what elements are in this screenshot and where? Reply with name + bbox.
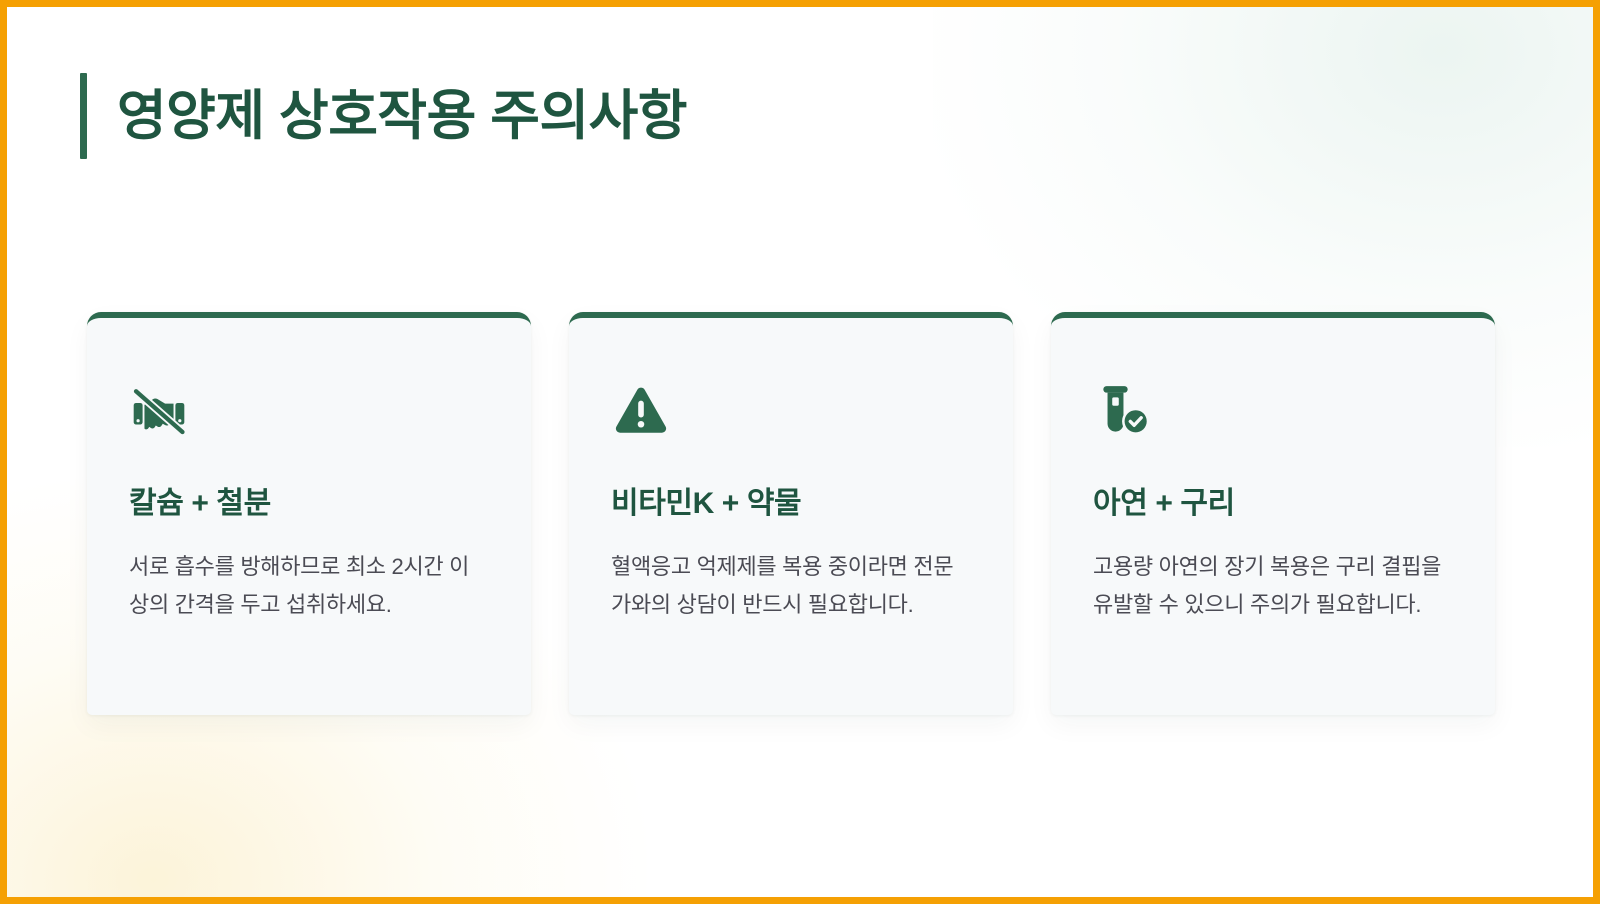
card-row: 칼슘 + 철분 서로 흡수를 방해하므로 최소 2시간 이상의 간격을 두고 섭…	[87, 312, 1495, 715]
page-heading: 영양제 상호작용 주의사항	[80, 73, 687, 159]
test-tube-check-icon	[1093, 380, 1153, 440]
card-title: 칼슘 + 철분	[129, 486, 489, 522]
info-card-zinc-copper: 아연 + 구리 고용량 아연의 장기 복용은 구리 결핍을 유발할 수 있으니 …	[1051, 312, 1495, 715]
slide-frame: 영양제 상호작용 주의사항 칼슘	[0, 0, 1600, 904]
card-title: 비타민K + 약물	[611, 486, 971, 522]
info-card-calcium-iron: 칼슘 + 철분 서로 흡수를 방해하므로 최소 2시간 이상의 간격을 두고 섭…	[87, 312, 531, 715]
card-description: 서로 흡수를 방해하므로 최소 2시간 이상의 간격을 두고 섭취하세요.	[129, 548, 487, 624]
info-card-vitamink-medication: 비타민K + 약물 혈액응고 억제제를 복용 중이라면 전문가와의 상담이 반드…	[569, 312, 1013, 715]
card-description: 혈액응고 억제제를 복용 중이라면 전문가와의 상담이 반드시 필요합니다.	[611, 548, 969, 624]
card-title: 아연 + 구리	[1093, 486, 1453, 522]
heading-accent-bar	[80, 73, 87, 159]
slide-content: 영양제 상호작용 주의사항 칼슘	[7, 7, 1593, 897]
handshake-slash-icon	[129, 380, 189, 440]
warning-triangle-icon	[611, 380, 671, 440]
page-title: 영양제 상호작용 주의사항	[117, 87, 687, 145]
card-description: 고용량 아연의 장기 복용은 구리 결핍을 유발할 수 있으니 주의가 필요합니…	[1093, 548, 1451, 624]
